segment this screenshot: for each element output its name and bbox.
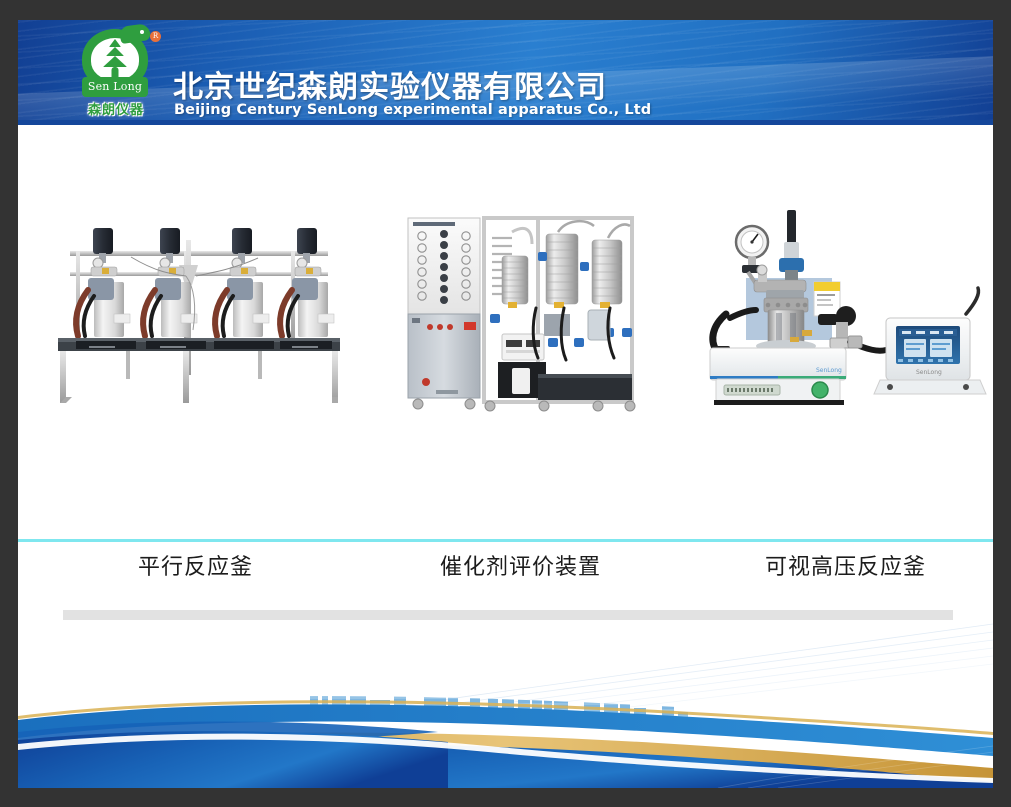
content-area: SenLong <box>18 125 993 645</box>
svg-text:SenLong: SenLong <box>816 367 842 374</box>
company-name-en: Beijing Century SenLong experimental app… <box>174 102 651 118</box>
catalyst-evaluation-unit-photo <box>398 210 663 425</box>
logo-pine-tree-icon <box>102 39 128 79</box>
header-banner: R Sen Long 森朗仪器 北京世纪森朗实验仪器有限公司 Beijing C… <box>18 20 993 130</box>
slide-frame: R Sen Long 森朗仪器 北京世纪森朗实验仪器有限公司 Beijing C… <box>0 0 1011 807</box>
company-name-cn: 北京世纪森朗实验仪器有限公司 <box>173 62 607 106</box>
parallel-reactor-photo <box>36 210 366 425</box>
logo-brand-en: Sen Long <box>82 77 148 97</box>
caption-parallel-reactor: 平行反应釜 <box>138 549 253 581</box>
caption-visual-high-pressure-reactor: 可视高压反应釜 <box>765 549 926 581</box>
registered-trademark-icon: R <box>150 31 161 42</box>
svg-text:SenLong: SenLong <box>916 369 942 376</box>
caption-catalyst-evaluation-unit: 催化剂评价装置 <box>440 549 601 581</box>
cyan-divider-line <box>18 539 993 542</box>
product-captions: 平行反应釜 催化剂评价装置 可视高压反应釜 <box>18 549 993 589</box>
company-logo: R Sen Long 森朗仪器 <box>68 27 168 127</box>
logo-brand-cn: 森朗仪器 <box>68 99 164 118</box>
logo-emblem: R Sen Long <box>76 29 156 97</box>
slide-canvas: R Sen Long 森朗仪器 北京世纪森朗实验仪器有限公司 Beijing C… <box>18 20 993 788</box>
visual-high-pressure-reactor-photo: SenLong <box>690 210 990 425</box>
product-gallery: SenLong <box>18 210 993 425</box>
bottom-wave-ribbon <box>18 620 993 788</box>
logo-dragon-eye <box>140 30 144 34</box>
